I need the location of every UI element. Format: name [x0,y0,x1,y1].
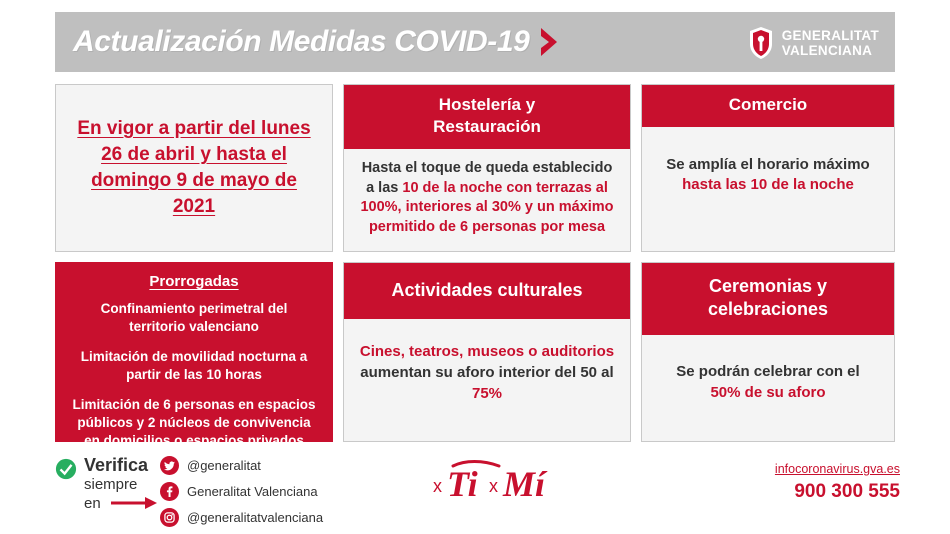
card-en-vigor-text: En vigor a partir del lunes 26 de abril … [56,116,332,220]
generalitat-logo-text: GENERALITAT VALENCIANA [782,28,879,58]
contact-block: infocoronavirus.gva.es 900 300 555 [775,462,900,503]
card-culturales-body-part1: Cines, teatros, museos o auditorios [360,343,614,360]
card-prorrogadas-item-2: Limitación de movilidad nocturna a parti… [68,348,320,384]
card-hosteleria-body-part2: 10 de la noche con terrazas al 100%, int… [360,180,613,235]
verifica-line-3: en [84,495,101,512]
verifica-line-2: siempre [84,475,157,494]
social-label-facebook: Generalitat Valenciana [187,484,318,499]
verifica-line-3-row: en [84,494,157,514]
arrow-right-icon [111,495,157,514]
social-label-instagram: @generalitatvalenciana [187,510,323,525]
card-ceremonias-body-part1: Se podrán celebrar con el [676,363,859,380]
check-circle-icon [55,458,77,480]
logo-line-2: VALENCIANA [782,43,879,58]
social-row-twitter[interactable]: @generalitat [160,456,323,475]
card-ceremonias-body: Se podrán celebrar con el 50% de su afor… [642,335,894,415]
card-en-vigor: En vigor a partir del lunes 26 de abril … [55,84,333,252]
facebook-icon [160,482,179,501]
instagram-icon [160,508,179,527]
card-culturales-body-part2: aumentan su aforo interior del 50 al [360,364,613,381]
card-culturales-body-part3: 75% [472,385,502,402]
social-label-twitter: @generalitat [187,458,261,473]
card-ceremonias: Ceremonias y celebraciones Se podrán cel… [641,262,895,442]
svg-text:x: x [433,476,442,496]
x-ti-x-mi-logo: x Ti x Mí [425,458,575,510]
card-ceremonias-title: Ceremonias y celebraciones [642,263,894,335]
card-hosteleria-title-line2: Restauración [350,116,624,138]
card-prorrogadas-item-1: Confinamiento perimetral del territorio … [68,300,320,336]
social-row-facebook[interactable]: Generalitat Valenciana [160,482,323,501]
card-actividades-culturales-body: Cines, teatros, museos o auditorios aume… [344,319,630,416]
social-row-instagram[interactable]: @generalitatvalenciana [160,508,323,527]
logo-line-1: GENERALITAT [782,28,879,43]
svg-text:x: x [489,476,498,496]
card-comercio-body-part2: hasta las 10 de la noche [682,176,854,193]
card-prorrogadas-item-3: Limitación de 6 personas en espacios púb… [68,396,320,450]
card-ceremonias-body-part2: 50% de su aforo [710,384,825,401]
card-hosteleria-title: Hostelería y Restauración [344,85,630,149]
card-ceremonias-title-line2: celebraciones [648,298,888,321]
card-hosteleria-body: Hasta el toque de queda establecido a la… [344,149,630,249]
card-ceremonias-title-line1: Ceremonias y [648,275,888,298]
chevron-right-icon [539,27,561,57]
svg-text:Ti: Ti [447,464,478,504]
verifica-text: Verifica siempre en [84,456,157,514]
generalitat-logo: GENERALITAT VALENCIANA [748,26,879,60]
card-comercio: Comercio Se amplía el horario máximo has… [641,84,895,252]
verifica-block: Verifica siempre en [55,456,157,514]
header-banner: Actualización Medidas COVID-19 GENERALIT… [55,12,895,72]
card-actividades-culturales-title: Actividades culturales [344,263,630,319]
card-hosteleria-title-line1: Hostelería y [350,94,624,116]
generalitat-shield-icon [748,26,774,60]
footer: Verifica siempre en [0,450,950,534]
card-actividades-culturales: Actividades culturales Cines, teatros, m… [343,262,631,442]
infographic-page: Actualización Medidas COVID-19 GENERALIT… [0,0,950,534]
contact-url[interactable]: infocoronavirus.gva.es [775,462,900,476]
twitter-icon [160,456,179,475]
social-links: @generalitat Generalitat Valenciana @gen… [160,456,323,534]
card-prorrogadas-title: Prorrogadas [68,273,320,290]
card-comercio-body: Se amplía el horario máximo hasta las 10… [642,127,894,206]
card-hosteleria: Hostelería y Restauración Hasta el toque… [343,84,631,252]
card-comercio-title: Comercio [642,85,894,127]
card-prorrogadas: Prorrogadas Confinamiento perimetral del… [55,262,333,442]
verifica-line-1: Verifica [84,456,157,475]
svg-text:Mí: Mí [502,464,548,504]
campaign-logo: x Ti x Mí [425,458,575,515]
contact-phone: 900 300 555 [775,481,900,503]
page-title: Actualización Medidas COVID-19 [73,25,529,59]
card-comercio-body-part1: Se amplía el horario máximo [666,156,869,173]
